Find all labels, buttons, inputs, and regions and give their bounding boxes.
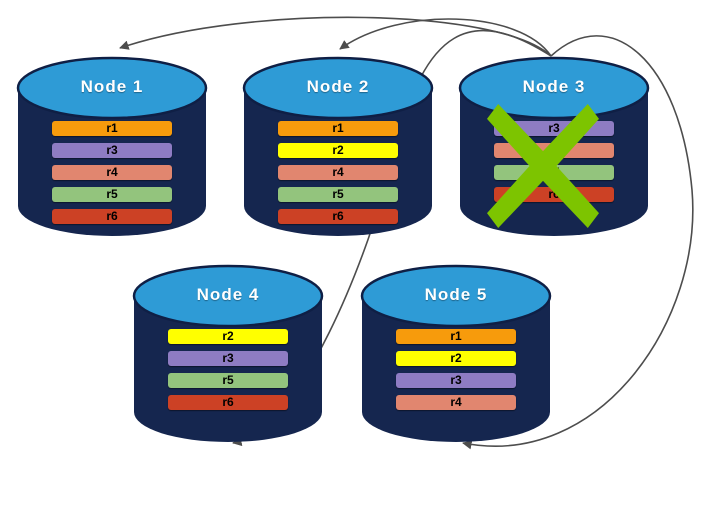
data-row-r6[interactable]: r6 xyxy=(278,209,398,224)
data-row-r4[interactable]: r4 xyxy=(494,143,614,158)
diagram-canvas: Node 1r1r3r4r5r6Node 2r1r2r4r5r6Node 3r3… xyxy=(0,0,708,508)
data-row-r1[interactable]: r1 xyxy=(52,121,172,136)
cylinder-top xyxy=(18,58,206,118)
database-node-4[interactable]: Node 4r2r3r5r6 xyxy=(134,266,322,442)
database-node-2[interactable]: Node 2r1r2r4r5r6 xyxy=(244,58,432,236)
database-node-5[interactable]: Node 5r1r2r3r4 xyxy=(362,266,550,442)
data-row-r3[interactable]: r3 xyxy=(396,373,516,388)
data-row-r3[interactable]: r3 xyxy=(168,351,288,366)
database-node-3[interactable]: Node 3r3r4r5r6 xyxy=(460,58,648,236)
edge-node3-to-node1 xyxy=(120,17,551,56)
data-row-r5[interactable]: r5 xyxy=(494,165,614,180)
data-row-r4[interactable]: r4 xyxy=(396,395,516,410)
database-node-1[interactable]: Node 1r1r3r4r5r6 xyxy=(18,58,206,236)
cylinder-top xyxy=(460,58,648,118)
data-row-r6[interactable]: r6 xyxy=(52,209,172,224)
data-row-r6[interactable]: r6 xyxy=(168,395,288,410)
cylinder-top xyxy=(134,266,322,326)
data-row-r2[interactable]: r2 xyxy=(278,143,398,158)
data-row-r1[interactable]: r1 xyxy=(396,329,516,344)
data-row-r5[interactable]: r5 xyxy=(168,373,288,388)
data-row-r1[interactable]: r1 xyxy=(278,121,398,136)
data-row-r6[interactable]: r6 xyxy=(494,187,614,202)
data-row-r2[interactable]: r2 xyxy=(396,351,516,366)
data-row-r4[interactable]: r4 xyxy=(52,165,172,180)
edge-node3-to-node2 xyxy=(340,19,551,56)
data-row-r3[interactable]: r3 xyxy=(52,143,172,158)
data-row-r4[interactable]: r4 xyxy=(278,165,398,180)
cylinder-top xyxy=(362,266,550,326)
data-row-r2[interactable]: r2 xyxy=(168,329,288,344)
data-row-r5[interactable]: r5 xyxy=(278,187,398,202)
data-row-r3[interactable]: r3 xyxy=(494,121,614,136)
data-row-r5[interactable]: r5 xyxy=(52,187,172,202)
cylinder-top xyxy=(244,58,432,118)
